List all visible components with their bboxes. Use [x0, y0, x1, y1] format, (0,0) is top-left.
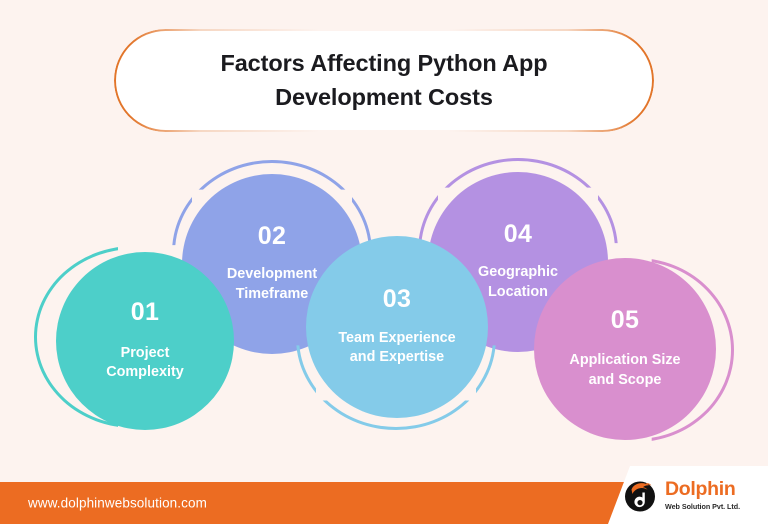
node-03-circle[interactable]: 03 Team Experience and Expertise [306, 236, 488, 418]
logo-panel: Dolphin Web Solution Pvt. Ltd. [608, 466, 768, 524]
dolphin-logo-icon [622, 477, 658, 513]
node-02-number: 02 [258, 224, 287, 249]
logo-wordmark: Dolphin Web Solution Pvt. Ltd. [665, 480, 740, 510]
logo-brand-name: Dolphin [665, 480, 740, 500]
website-url[interactable]: www.dolphinwebsolution.com [28, 496, 207, 511]
node-05-circle[interactable]: 05 Application Size and Scope [534, 258, 716, 440]
node-05-label: Application Size and Scope [569, 351, 680, 389]
factor-node-01[interactable]: 01 Project Complexity [34, 246, 246, 436]
node-05-number: 05 [611, 308, 640, 333]
node-03-number: 03 [383, 287, 412, 312]
node-01-circle[interactable]: 01 Project Complexity [56, 252, 234, 430]
node-03-label: Team Experience and Expertise [338, 329, 455, 367]
page-title: Factors Affecting Python App Development… [220, 47, 547, 114]
brand-logo[interactable]: Dolphin Web Solution Pvt. Ltd. [622, 477, 740, 513]
factor-node-03[interactable]: 03 Team Experience and Expertise [292, 236, 504, 434]
title-card: Factors Affecting Python App Development… [114, 29, 654, 132]
node-01-number: 01 [131, 300, 160, 325]
node-01-label: Project Complexity [106, 344, 184, 382]
logo-tagline: Web Solution Pvt. Ltd. [665, 503, 740, 510]
node-04-number: 04 [504, 222, 533, 247]
factor-node-05[interactable]: 05 Application Size and Scope [534, 254, 738, 446]
